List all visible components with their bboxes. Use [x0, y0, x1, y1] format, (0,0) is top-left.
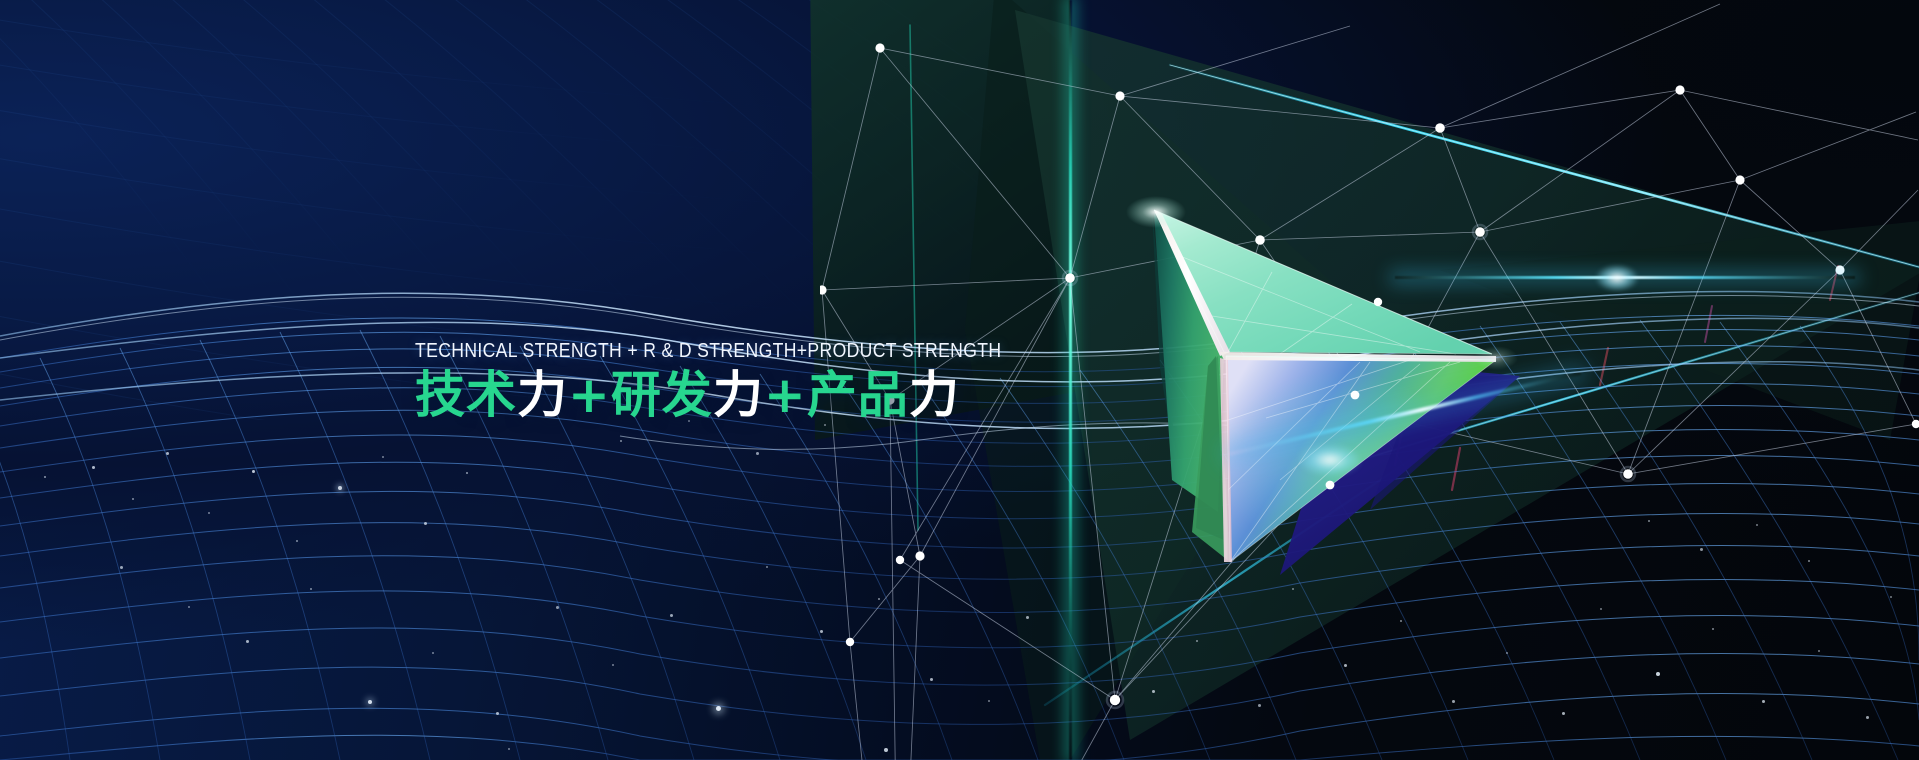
triangular-arrow-logo: [1120, 180, 1540, 580]
headline-segment: 产品: [807, 366, 909, 424]
headline-segment: +: [568, 366, 611, 424]
hero-banner: TECHNICAL STRENGTH + R & D STRENGTH+PROD…: [0, 0, 1919, 760]
horizontal-flare-core-icon: [1596, 265, 1638, 291]
headline-segment: 研发: [611, 366, 713, 424]
headline-segment: +: [764, 366, 807, 424]
banner-eyebrow: TECHNICAL STRENGTH + R & D STRENGTH+PROD…: [415, 340, 961, 363]
bottom-flare-core-icon: [1300, 445, 1360, 475]
headline-segment: 力: [909, 366, 960, 424]
banner-headline: 技术力+研发力+产品力: [415, 369, 1035, 422]
headline-segment: 力: [517, 366, 568, 424]
banner-copy: TECHNICAL STRENGTH + R & D STRENGTH+PROD…: [415, 340, 1035, 422]
headline-segment: 技术: [415, 366, 517, 424]
headline-segment: 力: [713, 366, 764, 424]
